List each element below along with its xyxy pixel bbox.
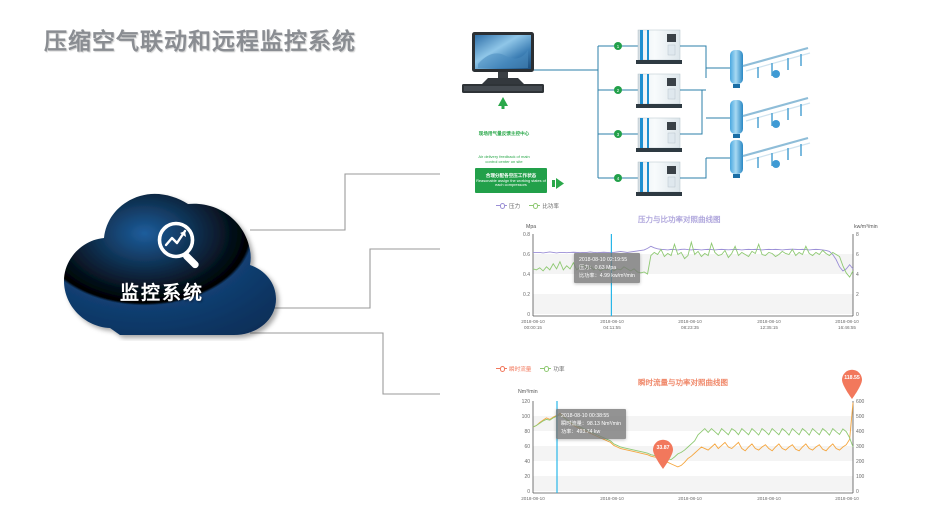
x-tick: 2018-08-10 00:00:15 [500,319,566,330]
tooltip-line1: 瞬时流量：98.13 Nm³/min [561,420,621,428]
x-tick: 2018-08-10 [500,496,566,502]
flow-chart-tooltip: 2018-08-10 00:38:55 瞬时流量：98.13 Nm³/min 功… [556,409,626,439]
pressure-chart-panel[interactable]: 压力 比功率 压力与比功率对照曲线图 Mpa kw/m³/min 0.8 0.6… [488,200,888,335]
marker-label: 118.55 [841,375,863,381]
green-arrow-icon [552,178,564,189]
feedback-label-en: Air delivery feedback of main control ce… [458,155,550,164]
x-tick: 2018-08-10 12:35:15 [736,319,802,330]
pressure-plot-area[interactable] [488,200,888,335]
flow-chart-panel[interactable]: 瞬时流量 功率 瞬时流量与功率对照曲线图 Nm³/min 120 100 80 … [488,363,888,523]
flow-min-marker[interactable]: 33.87 [652,439,674,469]
tooltip-time: 2018-08-10 00:38:55 [561,412,621,420]
compressor-branch-3: 3 [598,118,682,152]
x-tick: 2018-08-10 04:11:55 [579,319,645,330]
x-tick: 2018-08-10 [579,496,645,502]
x-tick: 2018-08-10 [736,496,802,502]
assign-box-en: Reasonable assign the working states of … [476,179,546,188]
x-tick: 2018-08-10 08:23:35 [657,319,723,330]
tooltip-line1: 压力：0.63 Mpa [579,264,635,272]
compressor-branch-1: 1 [598,30,682,64]
cloud-label: 监控系统 [36,278,288,305]
magnifier-chart-icon [154,218,208,272]
marker-label: 33.87 [652,445,674,451]
desktop-computer-icon [462,32,544,93]
marker-pin-icon [841,369,863,399]
tank-row-3 [730,138,810,178]
green-tree-arrow-icon [498,97,508,109]
marker-pin-icon [652,439,674,469]
feedback-label-cn: 现场用气量反馈主控中心 [458,131,550,136]
x-tick: 2018-08-10 16:46:55 [814,319,880,330]
system-diagram: 1 2 3 [440,18,940,208]
tooltip-line2: 比功率：4.99 kw/m³/min [579,272,635,280]
tank-row-2 [730,98,810,138]
page-title: 压缩空气联动和远程监控系统 [44,22,356,56]
slide-canvas: 压缩空气联动和远程监控系统 [0,0,945,529]
monitoring-cloud[interactable]: 监控系统 [36,193,288,341]
tooltip-time: 2018-08-10 02:19:55 [579,256,635,264]
flow-max-marker[interactable]: 118.55 [841,369,863,399]
x-tick: 2018-08-10 [657,496,723,502]
pressure-chart-tooltip: 2018-08-10 02:19:55 压力：0.63 Mpa 比功率：4.99… [574,253,640,283]
compressor-branch-4: 4 [598,162,682,196]
compressor-branch-2: 2 [598,74,682,108]
tooltip-line2: 功率：493.74 kw [561,428,621,436]
x-tick: 2018-08-10 [814,496,880,502]
tank-row-1 [730,48,810,88]
assign-status-box: 合理分配各空压工作状态 Reasonable assign the workin… [475,168,547,193]
